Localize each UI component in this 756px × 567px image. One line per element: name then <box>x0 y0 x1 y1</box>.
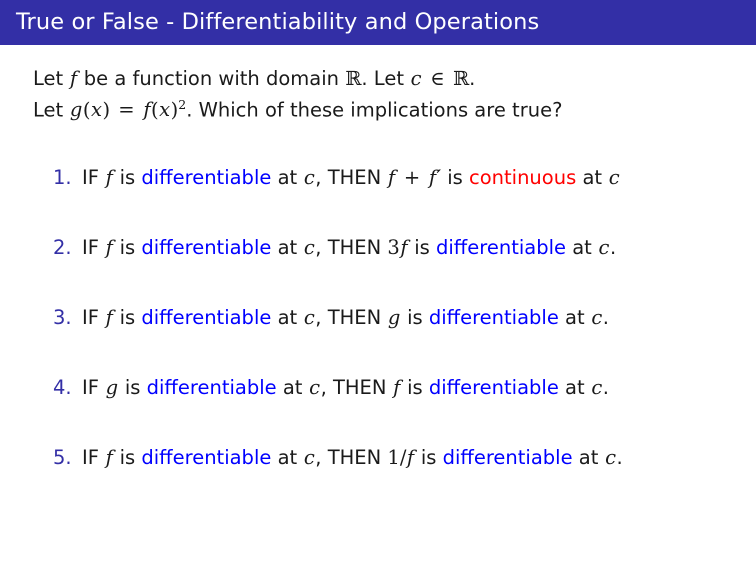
intro-phrase-domain: be a function with domain <box>84 67 339 90</box>
hypothesis-property: differentiable <box>141 236 271 259</box>
intro-let-3: Let <box>33 98 63 121</box>
list-item[interactable]: 1. IF f is differentiable at c, THEN f +… <box>0 155 756 225</box>
hypothesis-point: c <box>303 446 315 469</box>
list-item-number: 4. <box>53 376 72 400</box>
conclusion-point: c <box>605 446 617 469</box>
intro-element-of-symbol: ∈ <box>428 67 446 90</box>
at-word: at <box>283 376 303 399</box>
intro-paren-close-1: ) <box>102 98 110 121</box>
conclusion-subject-a: f <box>400 236 408 259</box>
at-word-2: at <box>565 306 585 329</box>
conclusion-property: differentiable <box>429 306 559 329</box>
is-word: is <box>120 446 136 469</box>
hypothesis-subject: f <box>105 306 113 329</box>
is-word-2: is <box>414 236 430 259</box>
at-word-2: at <box>572 236 592 259</box>
conclusion-point: c <box>591 306 603 329</box>
at-word-2: at <box>565 376 585 399</box>
list-item-text: IF f is differentiable at c, THEN 1/f is… <box>82 446 623 470</box>
slide: True or False - Differentiability and Op… <box>0 0 756 567</box>
hypothesis-subject: g <box>105 376 118 399</box>
at-word-2: at <box>582 166 602 189</box>
conclusion-point: c <box>598 236 610 259</box>
intro-block: Let f be a function with domain ℝ. Let c… <box>33 66 562 123</box>
hypothesis-subject: f <box>105 236 113 259</box>
hypothesis-property: differentiable <box>141 166 271 189</box>
list-item-text: IF f is differentiable at c, THEN f + f′… <box>82 166 620 190</box>
end-period: . <box>617 446 623 469</box>
is-word-2: is <box>421 446 437 469</box>
then-keyword: THEN <box>328 166 381 189</box>
slide-title: True or False - Differentiability and Op… <box>16 7 539 37</box>
intro-let-2: . Let <box>361 67 404 90</box>
clause-comma: , <box>315 166 321 189</box>
list-item[interactable]: 3. IF f is differentiable at c, THEN g i… <box>0 295 756 365</box>
intro-line-1: Let f be a function with domain ℝ. Let c… <box>33 66 562 92</box>
hypothesis-point: c <box>309 376 321 399</box>
intro-var-x-1: x <box>90 98 102 121</box>
clause-comma: , <box>315 306 321 329</box>
end-period: . <box>603 306 609 329</box>
slide-body: Let f be a function with domain ℝ. Let c… <box>0 45 756 567</box>
end-period: . <box>610 236 616 259</box>
conclusion-subject-b: f <box>428 166 436 189</box>
clause-comma: , <box>315 236 321 259</box>
list-item-text: IF f is differentiable at c, THEN g is d… <box>82 306 609 330</box>
list-item[interactable]: 4. IF g is differentiable at c, THEN f i… <box>0 365 756 435</box>
hypothesis-property: differentiable <box>147 376 277 399</box>
hypothesis-point: c <box>303 306 315 329</box>
list-item-text: IF f is differentiable at c, THEN 3f is … <box>82 236 616 260</box>
is-word: is <box>125 376 141 399</box>
conclusion-coefficient: 3 <box>387 236 399 259</box>
list-item[interactable]: 2. IF f is differentiable at c, THEN 3f … <box>0 225 756 295</box>
hypothesis-property: differentiable <box>141 446 271 469</box>
plus-sign: + <box>402 166 422 189</box>
intro-var-f-2: f <box>143 98 151 121</box>
end-period: . <box>603 376 609 399</box>
if-keyword: IF <box>82 236 99 259</box>
if-keyword: IF <box>82 166 99 189</box>
is-word-2: is <box>407 306 423 329</box>
intro-var-c: c <box>410 67 422 90</box>
conclusion-subject-a: f <box>393 376 401 399</box>
then-keyword: THEN <box>333 376 386 399</box>
intro-paren-open-2: ( <box>151 98 159 121</box>
if-keyword: IF <box>82 376 99 399</box>
intro-reals-2: ℝ <box>453 67 469 90</box>
intro-var-g: g <box>69 98 82 121</box>
conclusion-property: continuous <box>469 166 576 189</box>
list-item-number: 1. <box>53 166 72 190</box>
conclusion-subject-a: g <box>387 306 400 329</box>
conclusion-point: c <box>608 166 620 189</box>
is-word: is <box>120 166 136 189</box>
implications-list: 1. IF f is differentiable at c, THEN f +… <box>0 155 756 505</box>
then-keyword: THEN <box>328 446 381 469</box>
intro-equals-sign: = <box>116 98 136 121</box>
at-word: at <box>278 446 298 469</box>
intro-var-x-2: x <box>159 98 171 121</box>
hypothesis-property: differentiable <box>141 306 271 329</box>
intro-question-tail: . Which of these implications are true? <box>186 98 562 121</box>
list-item-text: IF g is differentiable at c, THEN f is d… <box>82 376 609 400</box>
list-item[interactable]: 5. IF f is differentiable at c, THEN 1/f… <box>0 435 756 505</box>
at-word-2: at <box>579 446 599 469</box>
at-word: at <box>278 306 298 329</box>
then-keyword: THEN <box>328 306 381 329</box>
intro-line-2: Let g(x) = f(x)2. Which of these implica… <box>33 92 562 123</box>
at-word: at <box>278 236 298 259</box>
clause-comma: , <box>321 376 327 399</box>
intro-var-f: f <box>69 67 77 90</box>
is-word-2: is <box>407 376 423 399</box>
then-keyword: THEN <box>328 236 381 259</box>
is-word-2: is <box>447 166 463 189</box>
if-keyword: IF <box>82 306 99 329</box>
conclusion-numerator-one: 1 <box>387 446 399 469</box>
conclusion-subject-a: f <box>387 166 395 189</box>
clause-comma: , <box>315 446 321 469</box>
intro-period-1: . <box>469 67 475 90</box>
conclusion-property: differentiable <box>429 376 559 399</box>
list-item-number: 5. <box>53 446 72 470</box>
list-item-number: 3. <box>53 306 72 330</box>
conclusion-point: c <box>591 376 603 399</box>
is-word: is <box>120 236 136 259</box>
at-word: at <box>278 166 298 189</box>
hypothesis-subject: f <box>105 446 113 469</box>
hypothesis-subject: f <box>105 166 113 189</box>
intro-let-1: Let <box>33 67 63 90</box>
hypothesis-point: c <box>303 166 315 189</box>
conclusion-subject-a: f <box>406 446 414 469</box>
list-item-number: 2. <box>53 236 72 260</box>
slide-title-bar: True or False - Differentiability and Op… <box>0 0 756 45</box>
prime-symbol: ′ <box>437 166 441 189</box>
conclusion-property: differentiable <box>443 446 573 469</box>
conclusion-property: differentiable <box>436 236 566 259</box>
hypothesis-point: c <box>303 236 315 259</box>
intro-reals-1: ℝ <box>345 67 361 90</box>
if-keyword: IF <box>82 446 99 469</box>
is-word: is <box>120 306 136 329</box>
